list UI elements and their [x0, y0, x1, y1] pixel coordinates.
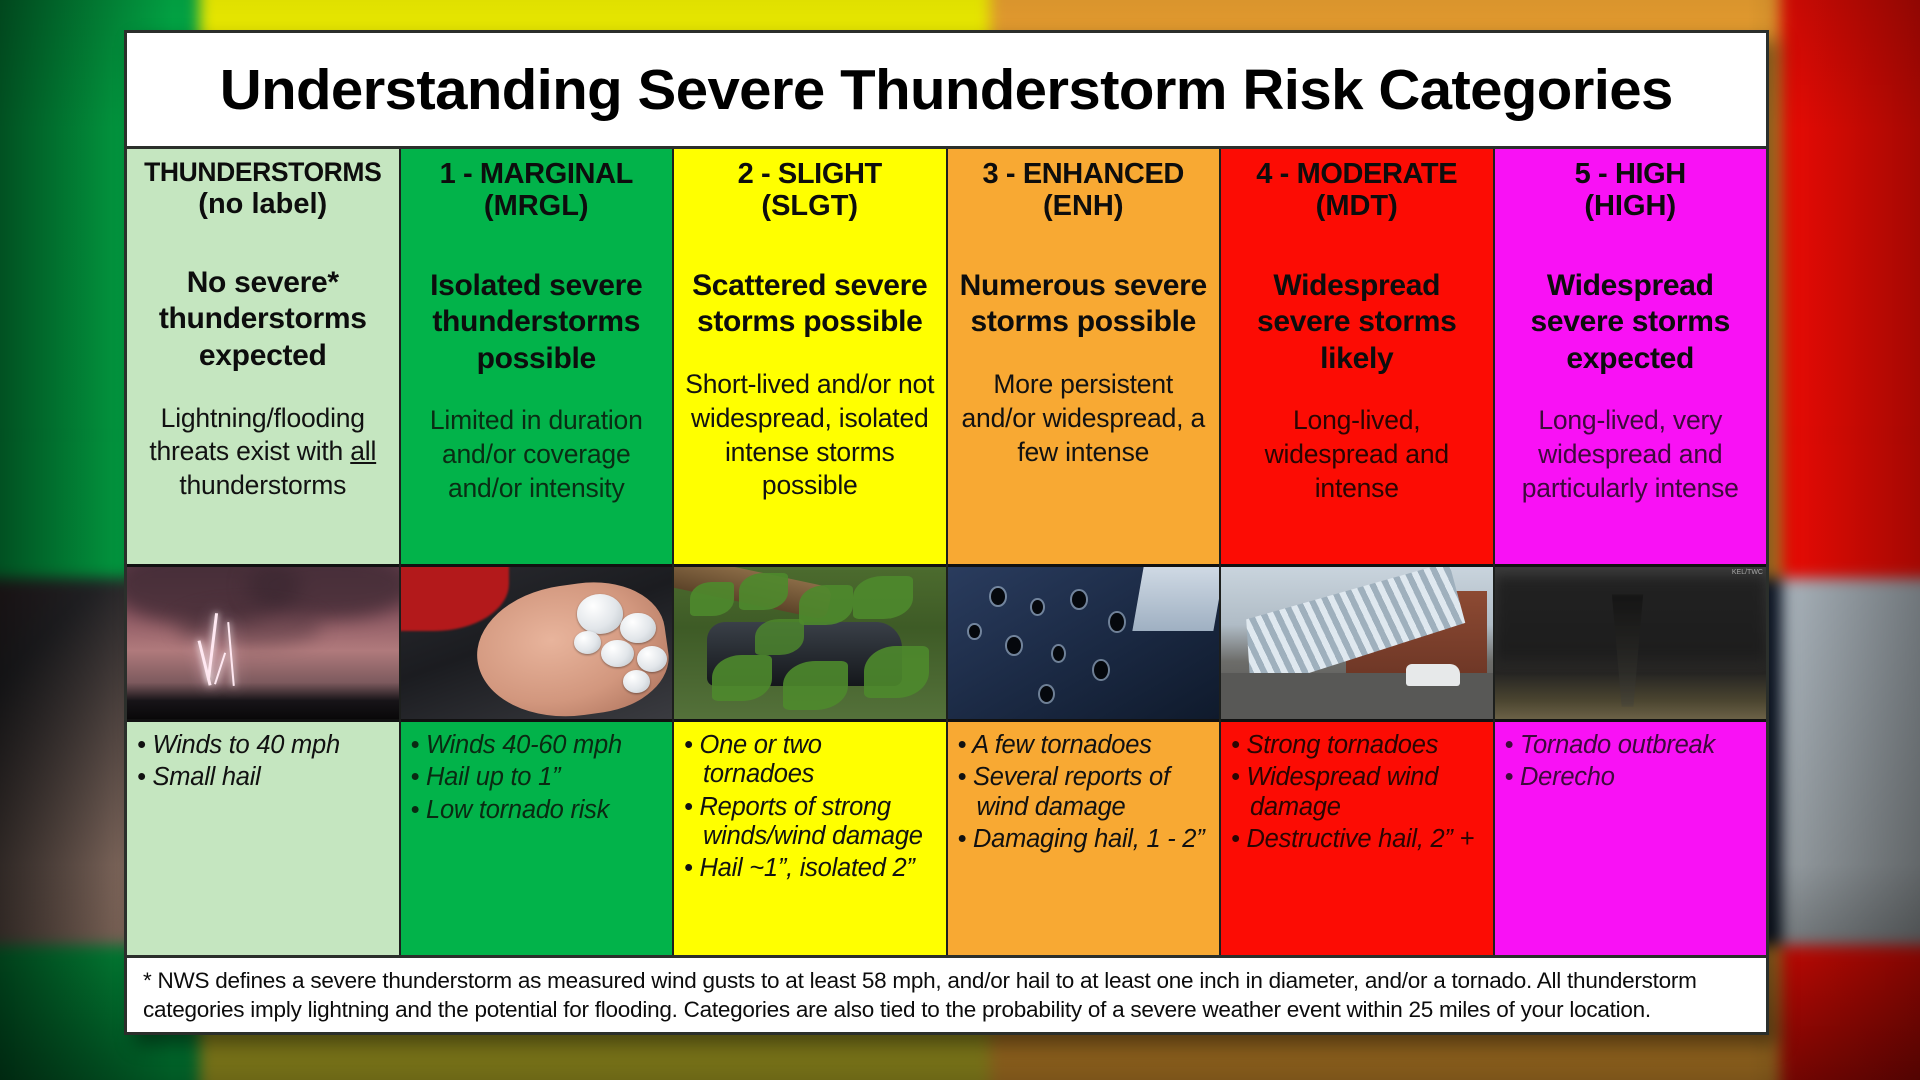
category-bullets-cell: Tornado outbreak Derecho: [1495, 722, 1767, 955]
category-column-slight: 2 - SLIGHT (SLGT) Scattered severe storm…: [674, 149, 948, 955]
hail-holes-car-hood-photo: [948, 564, 1220, 722]
list-item: Derecho: [1505, 763, 1759, 792]
photo-credit: KEL/TWC: [1732, 569, 1763, 576]
risk-category-chart-card: Understanding Severe Thunderstorm Risk C…: [124, 30, 1769, 1035]
bullet-list: Tornado outbreak Derecho: [1505, 731, 1759, 793]
category-heading: 3 - ENHANCED: [958, 158, 1210, 190]
category-detail-pre: Lightning/flooding threats exist with: [149, 403, 365, 467]
list-item: Small hail: [137, 763, 391, 792]
category-grid: THUNDERSTORMS (no label) No severe* thun…: [127, 146, 1766, 955]
category-description-cell: 4 - MODERATE (MDT) Widespread severe sto…: [1221, 149, 1493, 564]
list-item: Several reports of wind damage: [958, 763, 1212, 822]
tree-on-car-photo: [674, 564, 946, 722]
category-detail: Long-lived, very widespread and particul…: [1505, 404, 1757, 506]
category-detail: Short-lived and/or not widespread, isola…: [684, 368, 936, 504]
hail-holes-photo-art: [948, 567, 1220, 719]
category-detail-underline: all: [350, 436, 376, 466]
lightning-photo-art: [127, 567, 399, 719]
category-abbreviation: (no label): [137, 188, 389, 221]
category-bullets-cell: Winds 40-60 mph Hail up to 1” Low tornad…: [401, 722, 673, 955]
category-abbreviation: (SLGT): [684, 190, 936, 223]
category-description-cell: 3 - ENHANCED (ENH) Numerous severe storm…: [948, 149, 1220, 564]
category-description-cell: THUNDERSTORMS (no label) No severe* thun…: [127, 149, 399, 564]
list-item: A few tornadoes: [958, 731, 1212, 760]
list-item: Tornado outbreak: [1505, 731, 1759, 760]
list-item: Reports of strong winds/wind damage: [684, 793, 938, 852]
tornado-photo-art: KEL/TWC: [1495, 567, 1767, 719]
bullet-list: Winds to 40 mph Small hail: [137, 731, 391, 793]
category-abbreviation: (ENH): [958, 190, 1210, 223]
tree-on-car-photo-art: [674, 567, 946, 719]
list-item: Destructive hail, 2” +: [1231, 825, 1485, 854]
hail-in-hand-photo-art: [401, 567, 673, 719]
category-detail: Lightning/flooding threats exist with al…: [137, 402, 389, 504]
bullet-list: One or two tornadoes Reports of strong w…: [684, 731, 938, 884]
category-detail: Limited in duration and/or coverage and/…: [411, 404, 663, 506]
category-column-thunderstorms: THUNDERSTORMS (no label) No severe* thun…: [127, 149, 401, 955]
category-summary: No severe* thunderstorms expected: [137, 265, 389, 375]
footnote: * NWS defines a severe thunderstorm as m…: [127, 955, 1766, 1032]
list-item: Widespread wind damage: [1231, 763, 1485, 822]
lightning-photo: [127, 564, 399, 722]
category-heading: 5 - HIGH: [1505, 158, 1757, 190]
bullet-list: Strong tornadoes Widespread wind damage …: [1231, 731, 1485, 854]
category-heading: 2 - SLIGHT: [684, 158, 936, 190]
list-item: Low tornado risk: [411, 796, 665, 825]
list-item: Damaging hail, 1 - 2”: [958, 825, 1212, 854]
list-item: Strong tornadoes: [1231, 731, 1485, 760]
category-description-cell: 5 - HIGH (HIGH) Widespread severe storms…: [1495, 149, 1767, 564]
category-bullets-cell: One or two tornadoes Reports of strong w…: [674, 722, 946, 955]
list-item: Winds to 40 mph: [137, 731, 391, 760]
category-summary: Numerous severe storms possible: [958, 268, 1210, 341]
list-item: Hail up to 1”: [411, 763, 665, 792]
list-item: Hail ~1”, isolated 2”: [684, 854, 938, 883]
hail-in-hand-photo: [401, 564, 673, 722]
tornado-photo: KEL/TWC: [1495, 564, 1767, 722]
category-column-marginal: 1 - MARGINAL (MRGL) Isolated severe thun…: [401, 149, 675, 955]
category-detail-post: thunderstorms: [179, 470, 346, 500]
category-description-cell: 2 - SLIGHT (SLGT) Scattered severe storm…: [674, 149, 946, 564]
category-column-high: 5 - HIGH (HIGH) Widespread severe storms…: [1495, 149, 1767, 955]
category-detail: More persistent and/or widespread, a few…: [958, 368, 1210, 470]
category-summary: Widespread severe storms expected: [1505, 268, 1757, 378]
category-description-cell: 1 - MARGINAL (MRGL) Isolated severe thun…: [401, 149, 673, 564]
bullet-list: A few tornadoes Several reports of wind …: [958, 731, 1212, 854]
category-heading: THUNDERSTORMS: [137, 158, 389, 188]
page-title: Understanding Severe Thunderstorm Risk C…: [220, 57, 1673, 123]
category-detail: Long-lived, widespread and intense: [1231, 404, 1483, 506]
category-bullets-cell: Winds to 40 mph Small hail: [127, 722, 399, 955]
category-column-enhanced: 3 - ENHANCED (ENH) Numerous severe storm…: [948, 149, 1222, 955]
list-item: One or two tornadoes: [684, 731, 938, 790]
chart-title-bar: Understanding Severe Thunderstorm Risk C…: [127, 33, 1766, 146]
roof-damage-photo-art: [1221, 567, 1493, 719]
category-heading: 1 - MARGINAL: [411, 158, 663, 190]
category-summary: Widespread severe storms likely: [1231, 268, 1483, 378]
roof-damage-photo: [1221, 564, 1493, 722]
list-item: Winds 40-60 mph: [411, 731, 665, 760]
category-heading: 4 - MODERATE: [1231, 158, 1483, 190]
category-bullets-cell: A few tornadoes Several reports of wind …: [948, 722, 1220, 955]
category-bullets-cell: Strong tornadoes Widespread wind damage …: [1221, 722, 1493, 955]
category-abbreviation: (MRGL): [411, 190, 663, 223]
category-summary: Isolated severe thunderstorms possible: [411, 268, 663, 378]
category-abbreviation: (MDT): [1231, 190, 1483, 223]
category-column-moderate: 4 - MODERATE (MDT) Widespread severe sto…: [1221, 149, 1495, 955]
bullet-list: Winds 40-60 mph Hail up to 1” Low tornad…: [411, 731, 665, 825]
category-summary: Scattered severe storms possible: [684, 268, 936, 341]
category-abbreviation: (HIGH): [1505, 190, 1757, 223]
